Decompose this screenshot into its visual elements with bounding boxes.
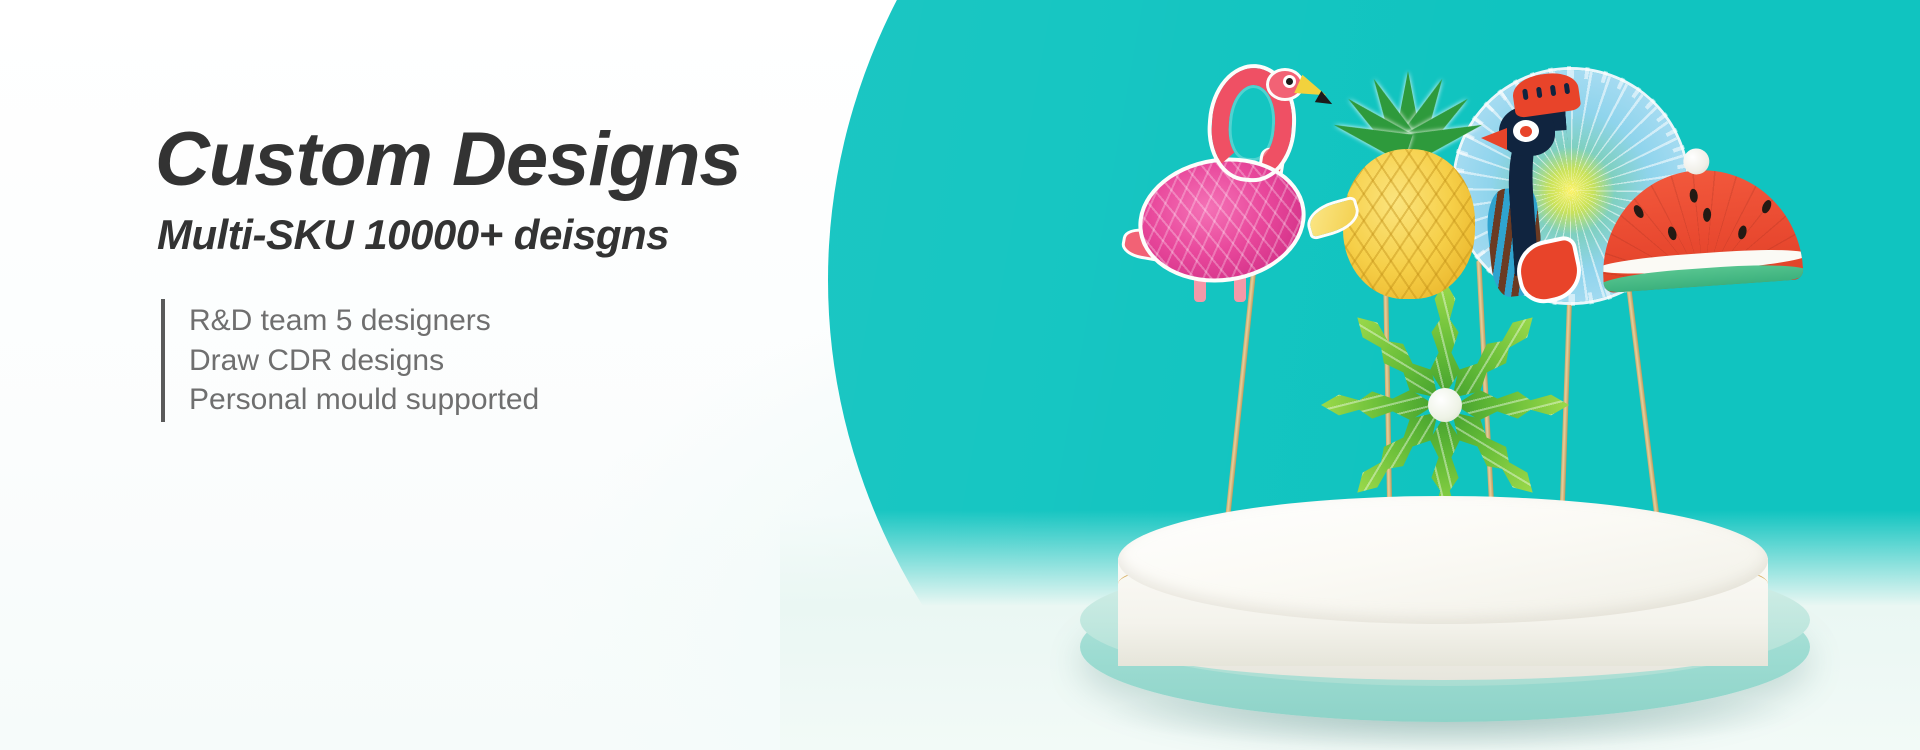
feature-list: R&D team 5 designers Draw CDR designs Pe… [161,299,855,422]
flamingo-body [1130,147,1314,293]
peacock-crest-dot [1564,83,1570,95]
watermelon-cocktail-umbrella-decoration [1595,141,1816,315]
flamingo-honeycomb-decoration [1138,62,1348,312]
peacock-crest-dot [1550,85,1556,97]
palm-center-dot [1428,388,1462,422]
podium-top-surface [1118,496,1768,624]
list-item: R&D team 5 designers [189,301,855,341]
display-podium [1080,530,1810,740]
watermelon-seed [1760,199,1773,215]
watermelon-seed [1689,188,1698,203]
watermelon-seed [1737,225,1748,241]
umbrella-canopy [1596,164,1804,294]
watermelon-seed [1632,204,1646,220]
pineapple-honeycomb-decoration [1325,55,1500,305]
peacock-crest-dot [1522,89,1528,101]
page-subtitle: Multi-SKU 10000+ deisgns [157,213,855,257]
list-item: Personal mould supported [189,380,855,420]
watermelon-seed [1703,208,1711,222]
watermelon-seed [1667,225,1679,241]
peacock-eye [1513,120,1539,142]
list-item: Draw CDR designs [189,341,855,381]
peacock-crest-dot [1536,87,1542,99]
flamingo-eye [1283,75,1296,88]
palm-leaf-star-decoration [1340,300,1550,510]
headline-block: Custom Designs Multi-SKU 10000+ deisgns … [155,120,855,422]
pineapple-body [1343,149,1475,299]
page-title: Custom Designs [155,120,855,199]
promo-banner: Custom Designs Multi-SKU 10000+ deisgns … [0,0,1920,750]
